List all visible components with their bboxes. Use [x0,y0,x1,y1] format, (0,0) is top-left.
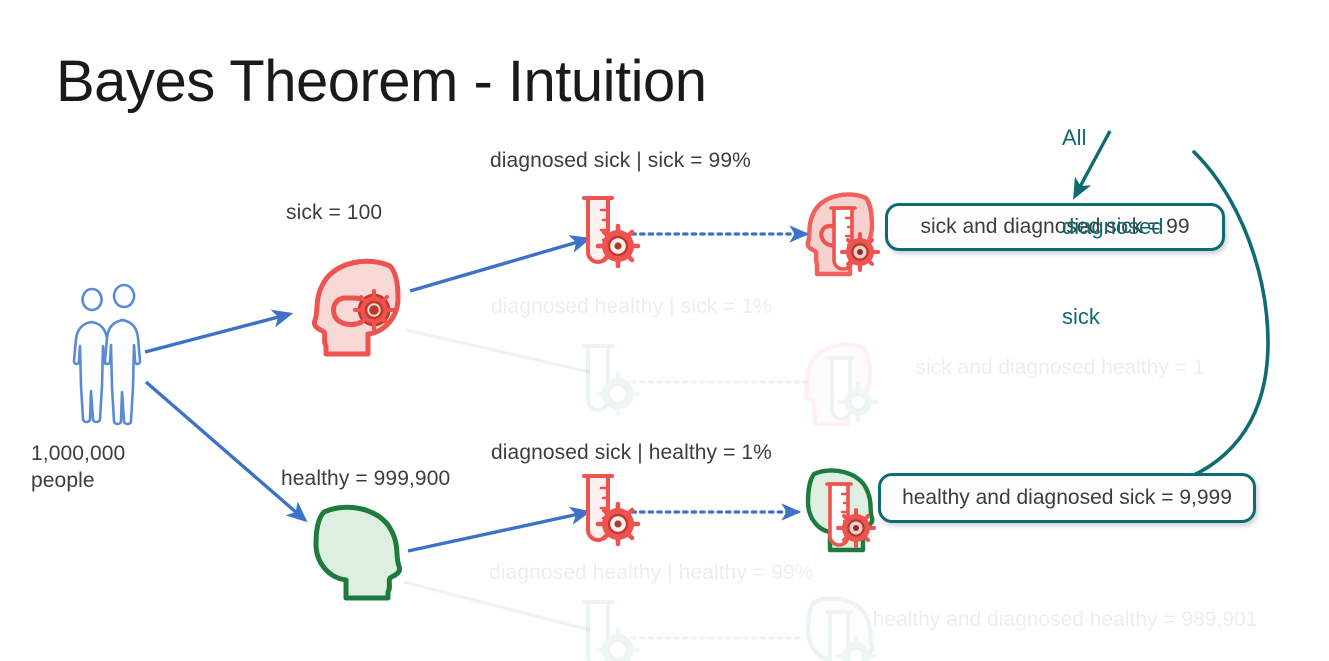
green-head-green-test-tube-icon [796,594,882,661]
edge-population-to-healthy [146,382,305,520]
annotation-line-3: sick [1062,302,1164,332]
condition-true-negative: diagnosed healthy | healthy = 99% [489,560,814,586]
all-diagnosed-sick-annotation: All diagnosed sick [1062,64,1164,391]
green-head-red-test-tube-icon [796,466,882,558]
result-box-false-positive[interactable]: healthy and diagnosed sick = 9,999 [878,473,1256,523]
slide-canvas: Bayes Theorem - Intuition [0,0,1329,661]
annotation-line-2: diagnosed [1062,212,1164,242]
result-box-true-negative: healthy and diagnosed healthy = 989,901 [875,600,1255,640]
red-test-tube-gear-icon [578,192,640,274]
red-head-brain-icon [306,258,410,358]
two-people-icon [62,296,154,422]
result-box-false-negative: sick and diagnosed healthy = 1 [890,348,1230,388]
healthy-node-label: healthy = 999,900 [281,466,450,492]
condition-false-negative: diagnosed healthy | sick = 1% [491,294,772,320]
result-box-false-positive-label: healthy and diagnosed sick = 9,999 [902,486,1232,510]
sick-node-label: sick = 100 [286,200,382,226]
edge-healthy-to-test-negative [404,582,590,630]
red-head-test-tube-icon [800,190,886,282]
page-title: Bayes Theorem - Intuition [56,48,707,115]
red-test-tube-gear-icon [578,470,640,552]
result-box-true-positive[interactable]: sick and diagnosed sick = 99 [885,203,1225,251]
green-test-tube-gear-icon [578,596,640,661]
edge-sick-to-test-negative [406,330,590,372]
condition-true-positive: diagnosed sick | sick = 99% [490,148,751,174]
red-head-green-test-tube-icon [798,340,884,432]
annotation-line-1: All [1062,123,1164,153]
green-head-icon [304,504,408,600]
edge-sick-to-test-positive [410,239,588,291]
condition-false-positive: diagnosed sick | healthy = 1% [491,440,772,466]
population-count-label: 1,000,000 [31,441,125,467]
result-box-true-negative-label: healthy and diagnosed healthy = 989,901 [873,608,1258,632]
population-unit-label: people [31,468,95,494]
edge-population-to-sick [145,314,290,352]
edge-healthy-to-test-positive [408,512,588,551]
green-test-tube-gear-icon [578,340,640,422]
